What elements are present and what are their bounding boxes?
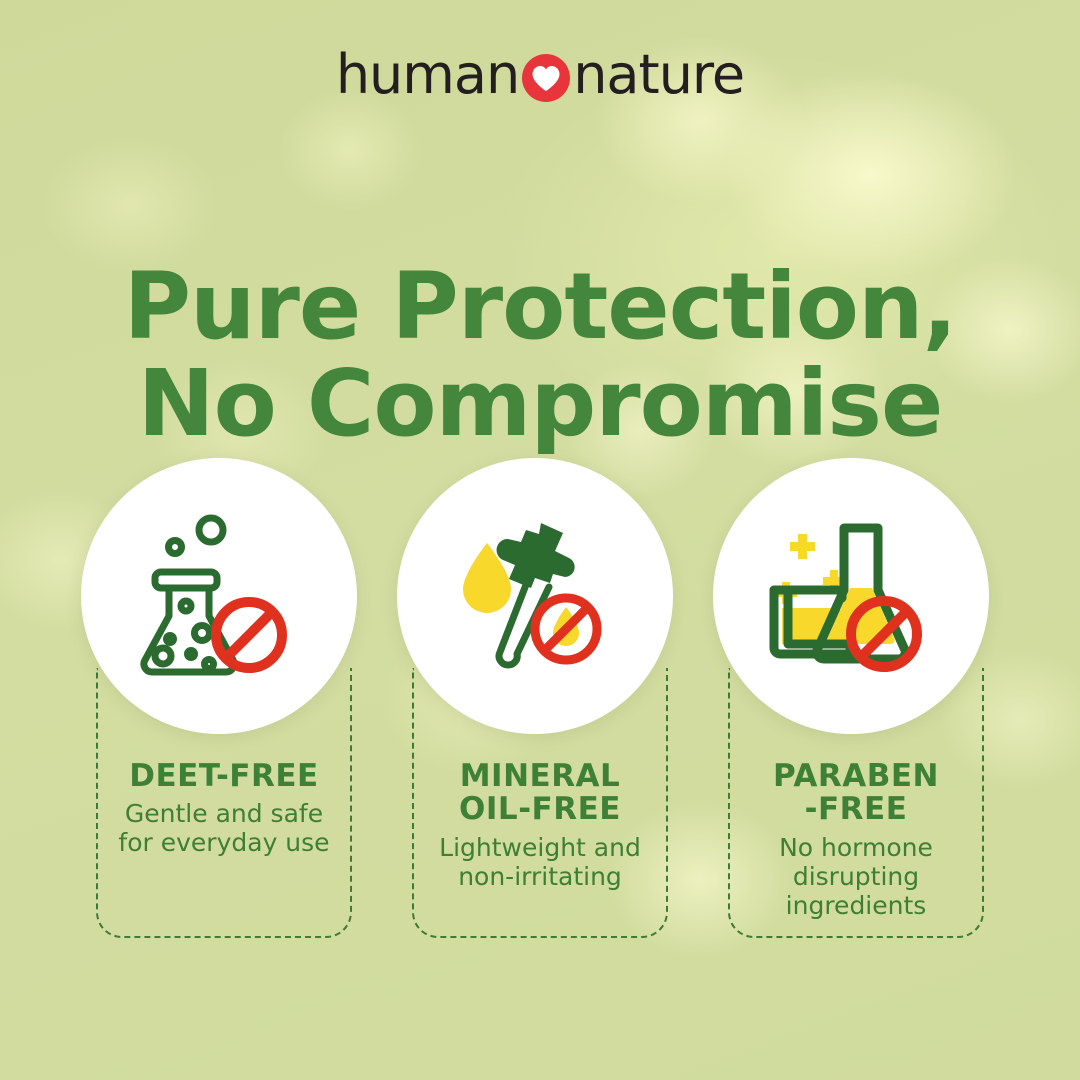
feature-text: MINERAL OIL-FREE Lightweight and non-irr…	[412, 760, 668, 891]
brand-word-left: human	[336, 48, 519, 102]
heart-icon	[522, 54, 570, 102]
no-mineral-oil-dropper-icon	[455, 511, 615, 681]
brand-logo: human nature	[0, 44, 1080, 106]
no-chemical-flask-icon	[139, 514, 299, 679]
feature-text: PARABEN -FREE No hormone disrupting ingr…	[728, 760, 984, 920]
poster-canvas: human nature Pure Protection, No Comprom…	[0, 0, 1080, 1080]
headline-line-2: No Compromise	[0, 355, 1080, 453]
feature-icon-badge	[397, 458, 673, 734]
feature-title: DEET-FREE	[96, 760, 352, 793]
feature-description: No hormone disrupting ingredients	[728, 833, 984, 920]
feature-title: PARABEN -FREE	[728, 760, 984, 827]
page-title: Pure Protection, No Compromise	[0, 258, 1080, 453]
feature-card-mineral-oil-free: MINERAL OIL-FREE Lightweight and non-irr…	[412, 458, 668, 891]
feature-title: MINERAL OIL-FREE	[412, 760, 668, 827]
feature-description: Lightweight and non-irritating	[412, 833, 668, 891]
feature-list: DEET-FREE Gentle and safe for everyday u…	[0, 458, 1080, 948]
brand-word-right: nature	[573, 48, 744, 102]
feature-card-deet-free: DEET-FREE Gentle and safe for everyday u…	[96, 458, 352, 857]
feature-text: DEET-FREE Gentle and safe for everyday u…	[96, 760, 352, 857]
feature-card-paraben-free: PARABEN -FREE No hormone disrupting ingr…	[728, 458, 984, 920]
feature-icon-badge	[713, 458, 989, 734]
no-paraben-beaker-icon	[766, 512, 936, 680]
feature-icon-badge	[81, 458, 357, 734]
headline-line-1: Pure Protection,	[0, 258, 1080, 356]
feature-description: Gentle and safe for everyday use	[96, 799, 352, 857]
